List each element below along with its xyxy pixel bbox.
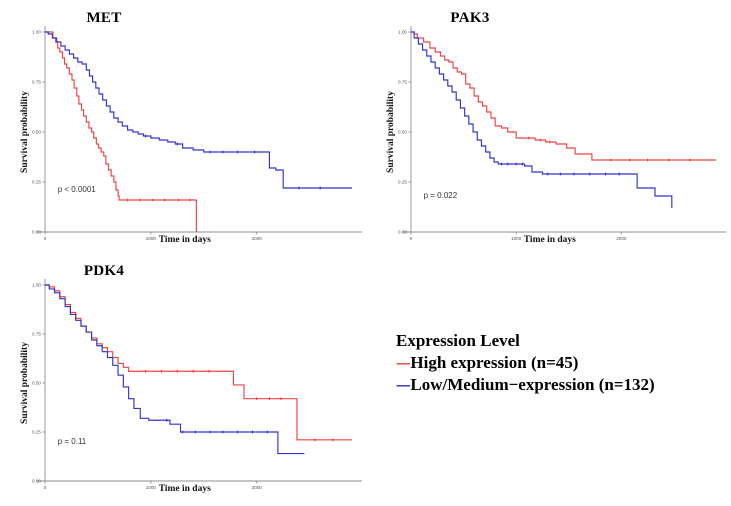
panel-pak3: PAK30.000.250.500.751.00010002000Surviva… [386,0,731,255]
panel-title: PDK4 [84,263,125,279]
x-tick-label: 2000 [252,236,263,241]
y-axis-title: Survival probability [386,91,396,173]
y-tick-label: 1.00 [32,283,41,288]
km-curve-high [45,285,352,440]
legend-entry-low-medium: --- Low/Medium−expression (n=132) [396,374,731,396]
km-curve-low-medium [45,32,352,188]
x-tick-label: 0 [44,236,47,241]
km-survival-figure: MET0.000.250.500.751.00010002000Survival… [0,0,731,506]
legend-label-high: High expression (n=45) [410,352,578,374]
y-tick-label: 0.00 [32,230,41,235]
x-tick-label: 2000 [252,485,263,490]
x-tick-label: 0 [44,485,47,490]
y-tick-label: 0.50 [398,130,407,135]
x-axis-title: Time in days [159,235,211,245]
pak3-plot: PAK30.000.250.500.751.00010002000Surviva… [386,0,731,255]
y-tick-label: 1.00 [398,30,407,35]
y-tick-label: 0.50 [32,130,41,135]
legend: Expression Level --- High expression (n=… [396,330,731,410]
panel-pdk4: PDK40.000.250.500.751.00010002000Surviva… [0,253,370,506]
p-value-label: p = 0.11 [58,437,87,446]
y-tick-label: 0.75 [32,80,41,85]
legend-entry-high: --- High expression (n=45) [396,352,731,374]
y-tick-label: 0.25 [32,180,41,185]
y-tick-label: 0.25 [398,180,407,185]
x-axis-title: Time in days [159,484,211,494]
y-tick-label: 0.50 [32,381,41,386]
x-axis-title: Time in days [524,235,576,245]
legend-dash-low-medium: --- [396,374,409,396]
pdk4-plot: PDK40.000.250.500.751.00010002000Surviva… [0,253,370,506]
km-curve-low-medium [411,32,672,208]
y-tick-label: 0.75 [32,332,41,337]
legend-dash-high: --- [396,352,409,374]
x-tick-label: 0 [410,236,413,241]
x-tick-label: 1000 [146,236,157,241]
y-axis-title: Survival probability [20,342,30,424]
legend-label-low-medium: Low/Medium−expression (n=132) [410,374,654,396]
y-tick-label: 0.75 [398,80,407,85]
legend-title: Expression Level [396,330,731,352]
km-curve-low-medium [45,285,304,454]
y-tick-label: 1.00 [32,30,41,35]
panel-title: PAK3 [450,10,489,26]
met-plot: MET0.000.250.500.751.00010002000Survival… [0,0,370,255]
km-curve-high [45,32,196,232]
x-tick-label: 2000 [616,236,627,241]
p-value-label: p < 0.0001 [58,185,97,194]
p-value-label: p = 0.022 [424,191,458,200]
y-tick-label: 0.00 [32,479,41,484]
panel-met: MET0.000.250.500.751.00010002000Survival… [0,0,370,255]
x-tick-label: 1000 [511,236,522,241]
y-axis-title: Survival probability [20,91,30,173]
x-tick-label: 1000 [146,485,157,490]
y-tick-label: 0.00 [398,230,407,235]
y-tick-label: 0.25 [32,430,41,435]
panel-title: MET [86,10,121,26]
